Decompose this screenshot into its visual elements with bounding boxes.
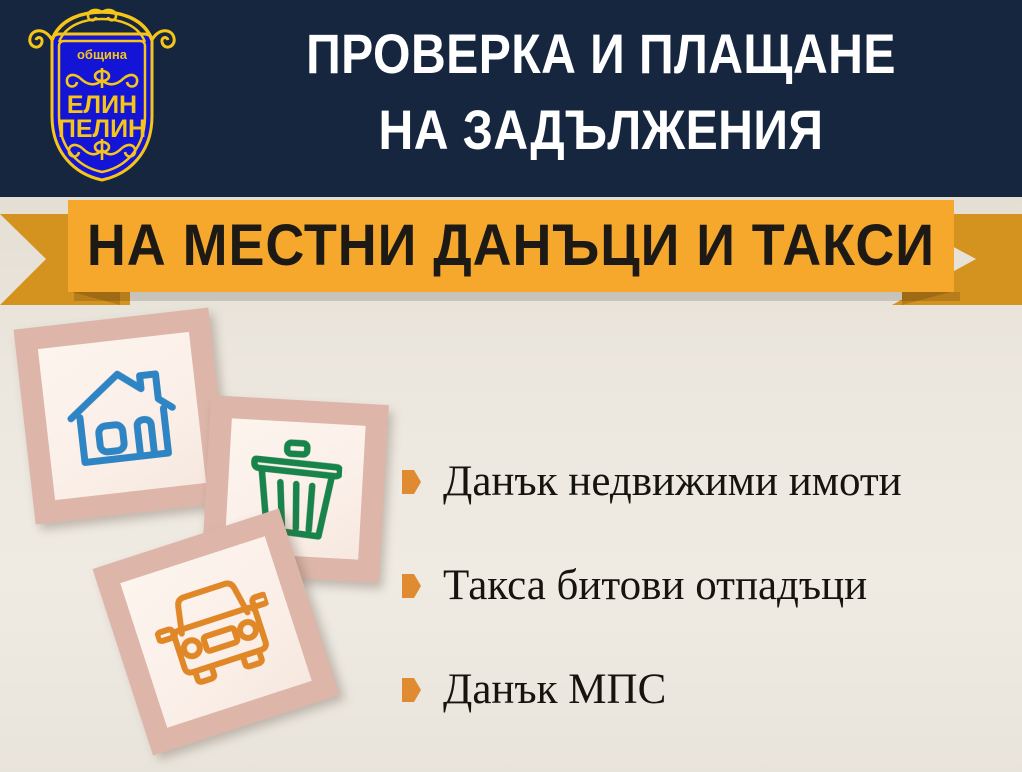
list-item[interactable]: Данък МПС (402, 638, 1020, 742)
list-item-label: Данък недвижими имоти (443, 458, 902, 505)
crest-icon: община ЕЛИН ПЕЛИН (22, 6, 182, 188)
ribbon-shadow (74, 292, 960, 301)
car-icon (145, 569, 286, 695)
list-item-label: Данък МПС (443, 666, 666, 713)
page-title: ПРОВЕРКА И ПЛАЩАНЕ НА ЗАДЪЛЖЕНИЯ (186, 16, 1016, 168)
stamp-card-property (14, 308, 231, 525)
title-line-2: НА ЗАДЪЛЖЕНИЯ (244, 92, 958, 168)
crest-line-2: ПЕЛИН (58, 115, 146, 143)
list-item[interactable]: Данък недвижими имоти (402, 430, 1020, 534)
tax-type-list: Данък недвижими имоти Такса битови отпад… (402, 430, 1020, 742)
stamp-paper (38, 332, 206, 500)
house-icon (61, 360, 184, 472)
arrow-bullet-icon (402, 678, 421, 702)
ribbon-banner: НА МЕСТНИ ДАНЪЦИ И ТАКСИ (0, 197, 1022, 305)
list-item[interactable]: Такса битови отпадъци (402, 534, 1020, 638)
arrow-bullet-icon (402, 574, 421, 598)
municipality-crest: община ЕЛИН ПЕЛИН (22, 6, 182, 188)
list-item-label: Такса битови отпадъци (443, 562, 867, 609)
poster-canvas: община ЕЛИН ПЕЛИН ПРОВЕРКА И ПЛАЩАНЕ НА … (0, 0, 1022, 772)
ribbon-label: НА МЕСТНИ ДАНЪЦИ И ТАКСИ (87, 216, 935, 276)
ribbon-band: НА МЕСТНИ ДАНЪЦИ И ТАКСИ (68, 200, 954, 292)
header-bar: община ЕЛИН ПЕЛИН ПРОВЕРКА И ПЛАЩАНЕ НА … (0, 0, 1022, 197)
arrow-bullet-icon (402, 470, 421, 494)
crest-top-label: община (77, 47, 128, 62)
title-line-1: ПРОВЕРКА И ПЛАЩАНЕ (244, 16, 958, 92)
